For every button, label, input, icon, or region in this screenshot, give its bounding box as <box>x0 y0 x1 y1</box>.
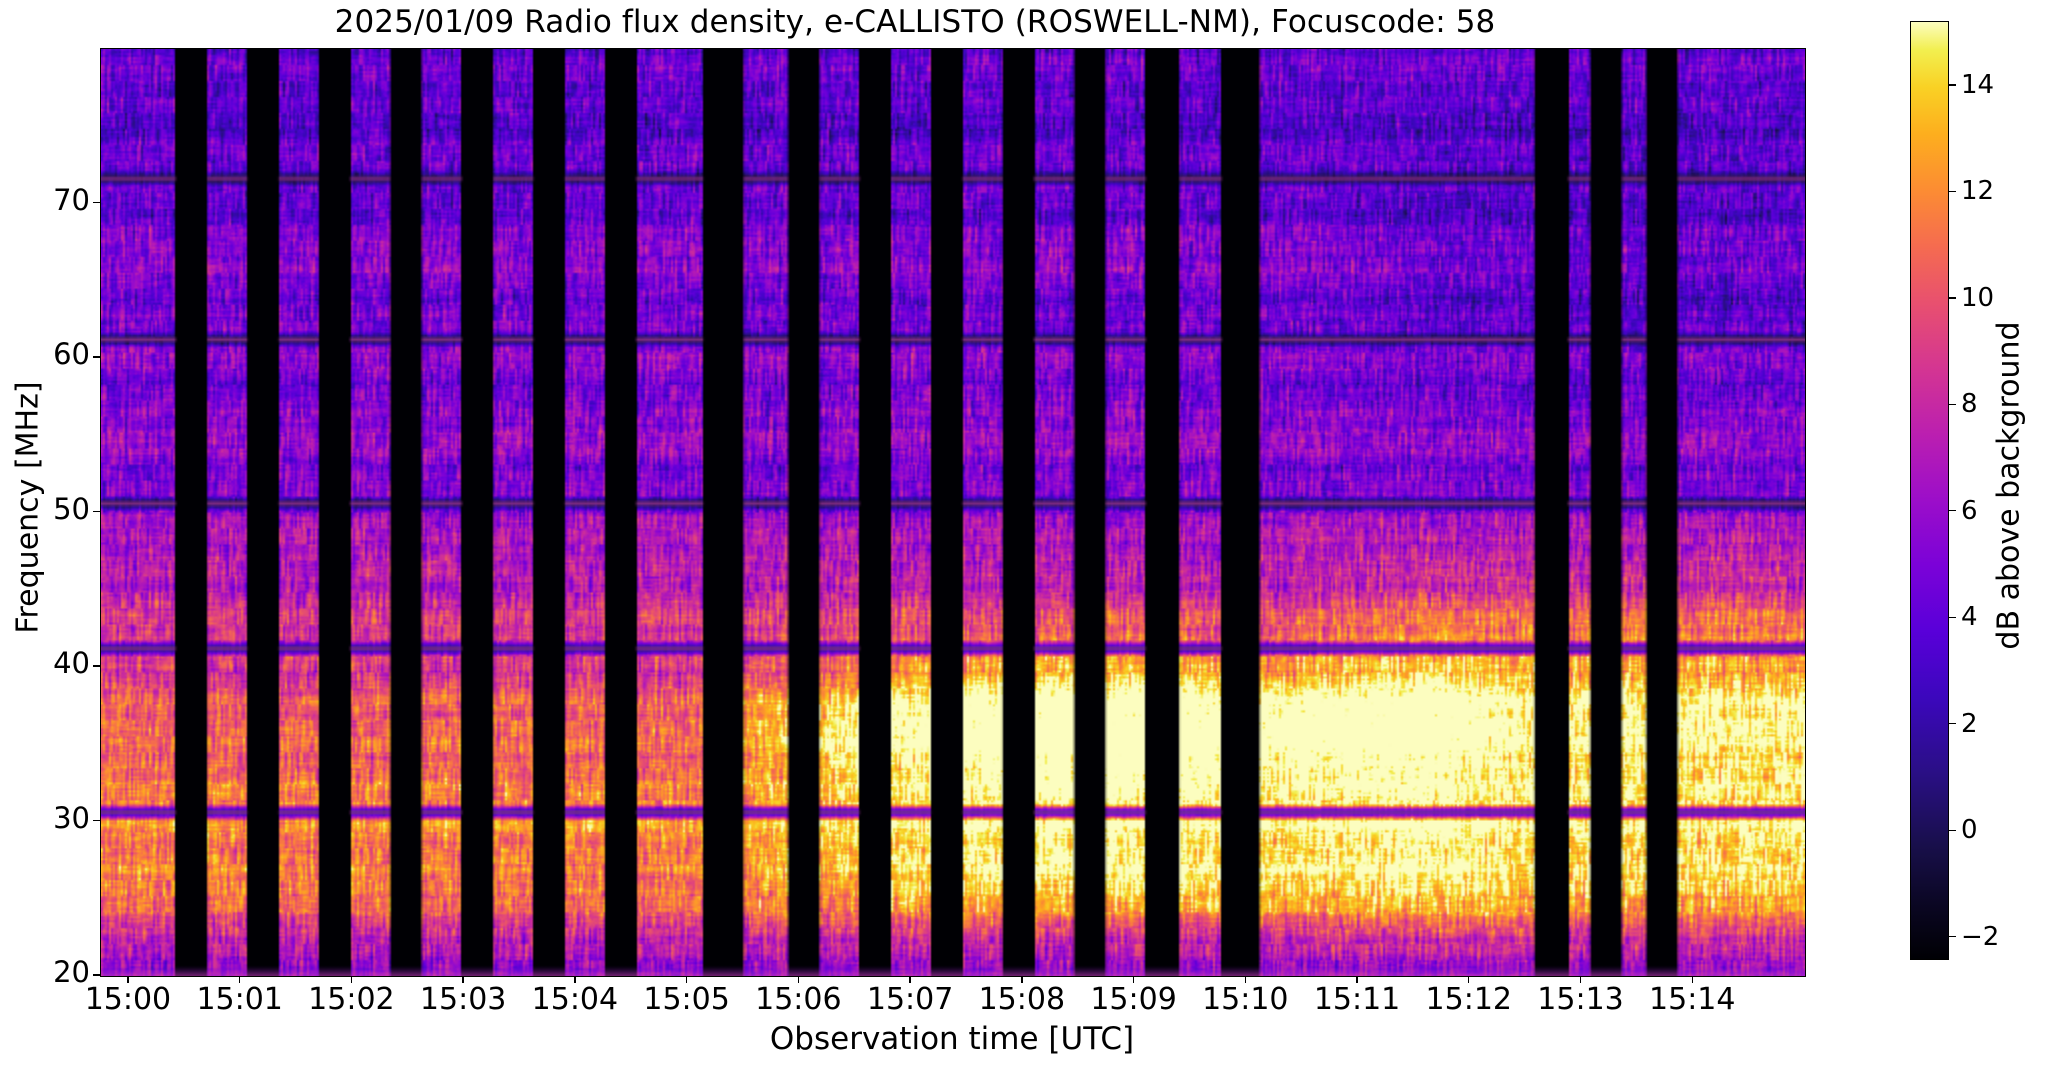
colorbar-tick-label: 6 <box>1961 496 1978 526</box>
colorbar-tick-label: 2 <box>1961 709 1978 739</box>
y-tick-mark <box>93 202 100 203</box>
y-tick-mark <box>93 974 100 975</box>
y-tick-mark <box>93 511 100 512</box>
x-tick-label: 15:05 <box>643 982 729 1017</box>
y-tick-mark <box>93 356 100 357</box>
x-tick-label: 15:06 <box>755 982 841 1017</box>
colorbar-tick-mark <box>1948 297 1956 298</box>
x-tick-label: 15:14 <box>1649 982 1735 1017</box>
y-tick-mark <box>93 820 100 821</box>
spectrogram-plot-area <box>100 48 1806 977</box>
colorbar-tick-mark <box>1948 723 1956 724</box>
y-axis-label: Frequency [MHz] <box>11 277 46 737</box>
y-tick-mark <box>93 665 100 666</box>
y-tick-label: 30 <box>34 801 90 835</box>
colorbar-tick-label: 8 <box>1961 389 1978 419</box>
y-tick-label: 20 <box>34 955 90 989</box>
x-tick-label: 15:01 <box>196 982 282 1017</box>
colorbar-tick-label: 4 <box>1961 602 1978 632</box>
x-tick-label: 15:13 <box>1537 982 1623 1017</box>
x-axis-label: Observation time [UTC] <box>100 1021 1804 1057</box>
figure-title: 2025/01/09 Radio flux density, e-CALLIST… <box>0 4 1830 40</box>
spectrogram-figure: 2025/01/09 Radio flux density, e-CALLIST… <box>0 0 2047 1067</box>
x-tick-label: 15:12 <box>1426 982 1512 1017</box>
colorbar-tick-mark <box>1948 84 1956 85</box>
x-tick-label: 15:08 <box>979 982 1065 1017</box>
colorbar-tick-label: 14 <box>1961 70 1994 100</box>
colorbar <box>1910 21 1949 960</box>
colorbar-tick-mark <box>1948 404 1956 405</box>
x-tick-label: 15:02 <box>308 982 394 1017</box>
x-tick-label: 15:03 <box>420 982 506 1017</box>
colorbar-tick-label: 10 <box>1961 283 1994 313</box>
y-tick-label: 70 <box>34 183 90 217</box>
x-tick-label: 15:09 <box>1090 982 1176 1017</box>
x-tick-label: 15:07 <box>867 982 953 1017</box>
colorbar-tick-mark <box>1948 936 1956 937</box>
colorbar-tick-label: −2 <box>1961 922 1999 952</box>
colorbar-tick-mark <box>1948 830 1956 831</box>
spectrogram-image <box>101 49 1805 976</box>
x-tick-label: 15:11 <box>1314 982 1400 1017</box>
x-tick-label: 15:04 <box>532 982 618 1017</box>
colorbar-tick-label: 12 <box>1961 176 1994 206</box>
x-tick-label: 15:00 <box>85 982 171 1017</box>
colorbar-tick-label: 0 <box>1961 815 1978 845</box>
colorbar-tick-mark <box>1948 191 1956 192</box>
colorbar-label: dB above background <box>1992 205 2027 765</box>
colorbar-tick-mark <box>1948 617 1956 618</box>
colorbar-tick-mark <box>1948 510 1956 511</box>
x-tick-label: 15:10 <box>1202 982 1288 1017</box>
